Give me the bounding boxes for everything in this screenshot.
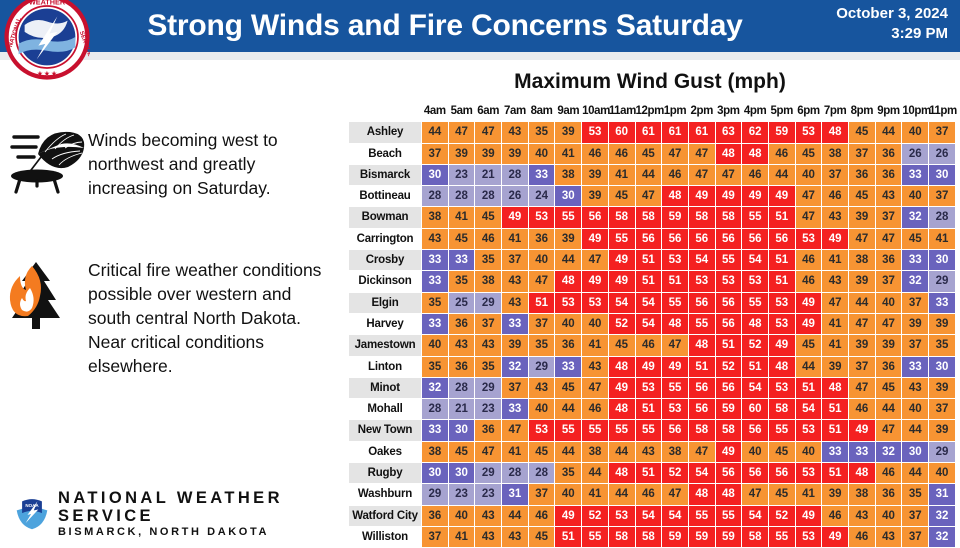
gust-cell: 41 (582, 484, 609, 505)
gust-cell: 54 (795, 399, 822, 420)
gust-cell: 51 (635, 463, 662, 484)
gust-cell: 47 (635, 186, 662, 207)
gust-cell: 48 (822, 377, 849, 398)
gust-cell: 30 (902, 441, 929, 462)
gust-cell: 53 (582, 122, 609, 143)
gust-cell: 59 (662, 526, 689, 547)
gust-cell: 39 (448, 143, 475, 164)
gust-cell: 37 (929, 399, 956, 420)
gust-cell: 25 (448, 292, 475, 313)
gust-cell: 56 (768, 228, 795, 249)
gust-cell: 56 (688, 377, 715, 398)
gust-cell: 54 (742, 250, 769, 271)
site-label: Harvey (349, 313, 422, 334)
gust-cell: 47 (475, 122, 502, 143)
gust-cell: 45 (555, 377, 582, 398)
gust-cell: 54 (635, 505, 662, 526)
gust-cell: 44 (608, 441, 635, 462)
gust-cell: 56 (688, 228, 715, 249)
gust-cell: 45 (795, 335, 822, 356)
site-label: Jamestown (349, 335, 422, 356)
gust-cell: 45 (768, 441, 795, 462)
gust-cell: 29 (528, 356, 555, 377)
gust-cell: 58 (768, 399, 795, 420)
gust-cell: 43 (902, 377, 929, 398)
gust-cell: 49 (582, 228, 609, 249)
hour-header-11pm: 11pm (929, 101, 956, 122)
gust-cell: 49 (502, 207, 529, 228)
table-row: Harvey3336373337404052544855564853494147… (349, 313, 956, 334)
gust-cell: 48 (608, 463, 635, 484)
gust-cell: 44 (849, 292, 876, 313)
site-label: Minot (349, 377, 422, 398)
gust-cell: 53 (608, 505, 635, 526)
gust-cell: 53 (795, 122, 822, 143)
gust-cell: 49 (849, 420, 876, 441)
gust-cell: 46 (849, 526, 876, 547)
gust-cell: 23 (475, 399, 502, 420)
gust-cell: 33 (422, 271, 449, 292)
gust-cell: 59 (768, 122, 795, 143)
site-label: New Town (349, 420, 422, 441)
nws-seal-icon: WEATHER ★ ★ ★ NATIONAL SERVICE (4, 0, 90, 80)
table-header-row: 4am5am6am7am8am9am10am11am12pm1pm2pm3pm4… (349, 101, 956, 122)
gust-cell: 56 (635, 228, 662, 249)
site-label: Elgin (349, 292, 422, 313)
site-label: Bowman (349, 207, 422, 228)
gust-cell: 54 (688, 463, 715, 484)
gust-cell: 55 (715, 250, 742, 271)
gust-cell: 47 (582, 250, 609, 271)
gust-cell: 28 (475, 186, 502, 207)
gust-cell: 46 (822, 505, 849, 526)
gust-cell: 51 (688, 356, 715, 377)
gust-cell: 37 (502, 377, 529, 398)
gust-cell: 40 (528, 399, 555, 420)
gust-cell: 58 (715, 207, 742, 228)
weather-graphic: WEATHER ★ ★ ★ NATIONAL SERVICE Strong Wi… (0, 0, 960, 540)
header-date: October 3, 2024 (768, 4, 948, 24)
gust-cell: 51 (768, 271, 795, 292)
gust-cell: 29 (475, 463, 502, 484)
gust-cell: 30 (422, 164, 449, 185)
gust-cell: 54 (635, 313, 662, 334)
gust-cell: 43 (635, 441, 662, 462)
site-label: Bottineau (349, 186, 422, 207)
gust-cell: 48 (662, 186, 689, 207)
gust-cell: 53 (768, 377, 795, 398)
bullet-panel: Winds becoming west to northwest and gre… (0, 68, 340, 488)
footer-office-name: BISMARCK, NORTH DAKOTA (58, 525, 344, 539)
gust-cell: 51 (795, 377, 822, 398)
gust-cell: 44 (555, 441, 582, 462)
table-row: Williston3741434345515558585959595855534… (349, 526, 956, 547)
gust-cell: 58 (715, 420, 742, 441)
gust-cell: 56 (742, 463, 769, 484)
gust-cell: 43 (502, 526, 529, 547)
gust-cell: 49 (715, 186, 742, 207)
gust-cell: 26 (902, 143, 929, 164)
gust-cell: 37 (929, 122, 956, 143)
gust-cell: 59 (688, 526, 715, 547)
gust-cell: 33 (822, 441, 849, 462)
gust-cell: 43 (849, 505, 876, 526)
gust-cell: 59 (715, 526, 742, 547)
gust-cell: 38 (582, 441, 609, 462)
gust-cell: 36 (875, 250, 902, 271)
noaa-logo-icon: NOAA (14, 496, 50, 532)
hour-header-4am: 4am (422, 101, 449, 122)
gust-cell: 48 (608, 356, 635, 377)
hour-header-2pm: 2pm (688, 101, 715, 122)
gust-cell: 47 (688, 164, 715, 185)
gust-cell: 44 (608, 484, 635, 505)
gust-cell: 56 (715, 292, 742, 313)
gust-cell: 53 (528, 207, 555, 228)
gust-cell: 53 (768, 313, 795, 334)
gust-cell: 54 (608, 292, 635, 313)
svg-text:NOAA: NOAA (25, 503, 39, 508)
gust-cell: 56 (662, 420, 689, 441)
gust-cell: 43 (875, 186, 902, 207)
gust-cell: 47 (662, 143, 689, 164)
gust-cell: 48 (715, 484, 742, 505)
gust-cell: 55 (555, 420, 582, 441)
table-row: Washburn29232331374041444647484847454139… (349, 484, 956, 505)
gust-cell: 37 (875, 207, 902, 228)
wind-gust-table: 4am5am6am7am8am9am10am11am12pm1pm2pm3pm4… (348, 100, 956, 548)
header-datetime: October 3, 2024 3:29 PM (768, 4, 948, 44)
svg-text:★ ★ ★: ★ ★ ★ (37, 71, 57, 78)
gust-cell: 45 (475, 207, 502, 228)
gust-cell: 44 (875, 399, 902, 420)
gust-cell: 28 (502, 463, 529, 484)
gust-cell: 45 (528, 526, 555, 547)
table-row: Ashley4447474335395360616161636259534845… (349, 122, 956, 143)
gust-cell: 55 (582, 420, 609, 441)
gust-cell: 40 (795, 164, 822, 185)
gust-cell: 21 (475, 164, 502, 185)
gust-cell: 45 (528, 441, 555, 462)
gust-cell: 46 (849, 399, 876, 420)
gust-cell: 53 (795, 420, 822, 441)
gust-cell: 47 (448, 122, 475, 143)
gust-cell: 46 (582, 143, 609, 164)
gust-cell: 53 (795, 526, 822, 547)
gust-cell: 41 (822, 335, 849, 356)
gust-cell: 46 (795, 250, 822, 271)
gust-cell: 56 (582, 207, 609, 228)
gust-cell: 48 (662, 313, 689, 334)
gust-cell: 56 (715, 377, 742, 398)
gust-cell: 49 (582, 271, 609, 292)
gust-cell: 46 (635, 484, 662, 505)
gust-cell: 28 (422, 186, 449, 207)
gust-cell: 29 (422, 484, 449, 505)
footer-agency-name: NATIONAL WEATHER SERVICE (58, 489, 344, 525)
gust-cell: 30 (422, 463, 449, 484)
gust-cell: 51 (822, 463, 849, 484)
gust-cell: 39 (849, 207, 876, 228)
gust-cell: 45 (448, 441, 475, 462)
wind-blown-umbrella-icon (8, 126, 88, 204)
gust-cell: 40 (742, 441, 769, 462)
gust-cell: 56 (742, 228, 769, 249)
gust-cell: 23 (475, 484, 502, 505)
gust-cell: 41 (929, 228, 956, 249)
hour-header-10pm: 10pm (902, 101, 929, 122)
site-label: Williston (349, 526, 422, 547)
gust-cell: 37 (822, 164, 849, 185)
gust-cell: 32 (902, 207, 929, 228)
hour-header-9am: 9am (555, 101, 582, 122)
gust-cell: 32 (422, 377, 449, 398)
gust-cell: 48 (688, 484, 715, 505)
gust-cell: 45 (608, 335, 635, 356)
gust-cell: 43 (875, 526, 902, 547)
gust-cell: 32 (929, 526, 956, 547)
gust-cell: 33 (528, 164, 555, 185)
gust-cell: 28 (448, 377, 475, 398)
gust-cell: 39 (902, 313, 929, 334)
gust-cell: 47 (795, 207, 822, 228)
gust-cell: 43 (475, 526, 502, 547)
gust-cell: 49 (795, 505, 822, 526)
site-label: Carrington (349, 228, 422, 249)
gust-cell: 54 (742, 505, 769, 526)
gust-cell: 48 (849, 463, 876, 484)
gust-cell: 33 (555, 356, 582, 377)
gust-cell: 32 (902, 271, 929, 292)
gust-cell: 28 (929, 207, 956, 228)
table-title: Maximum Wind Gust (mph) (350, 70, 950, 94)
site-label: Beach (349, 143, 422, 164)
hour-header-1pm: 1pm (662, 101, 689, 122)
gust-cell: 45 (795, 143, 822, 164)
site-label: Crosby (349, 250, 422, 271)
gust-cell: 48 (688, 335, 715, 356)
gust-cell: 35 (902, 484, 929, 505)
gust-cell: 56 (742, 420, 769, 441)
gust-cell: 43 (528, 377, 555, 398)
gust-cell: 49 (608, 377, 635, 398)
gust-cell: 53 (635, 377, 662, 398)
hour-header-9pm: 9pm (875, 101, 902, 122)
gust-cell: 33 (502, 313, 529, 334)
gust-cell: 40 (795, 441, 822, 462)
gust-cell: 56 (662, 228, 689, 249)
gust-cell: 33 (902, 356, 929, 377)
gust-cell: 52 (608, 313, 635, 334)
gust-cell: 37 (902, 526, 929, 547)
gust-cell: 49 (768, 335, 795, 356)
gust-cell: 45 (635, 143, 662, 164)
gust-cell: 37 (528, 313, 555, 334)
gust-cell: 53 (662, 250, 689, 271)
gust-cell: 21 (448, 399, 475, 420)
gust-cell: 56 (688, 292, 715, 313)
gust-cell: 46 (662, 164, 689, 185)
gust-cell: 36 (448, 356, 475, 377)
table-row: Mohall2821233340444648515356596058545146… (349, 399, 956, 420)
gust-cell: 32 (875, 441, 902, 462)
gust-cell: 47 (849, 377, 876, 398)
gust-cell: 48 (742, 313, 769, 334)
gust-cell: 56 (688, 399, 715, 420)
hour-header-11am: 11am (608, 101, 635, 122)
gust-cell: 55 (688, 505, 715, 526)
gust-cell: 61 (635, 122, 662, 143)
table-row: Carrington434546413639495556565656565653… (349, 228, 956, 249)
gust-cell: 55 (715, 505, 742, 526)
gust-cell: 40 (902, 399, 929, 420)
gust-cell: 43 (448, 335, 475, 356)
site-label: Washburn (349, 484, 422, 505)
gust-cell: 40 (555, 313, 582, 334)
gust-cell: 45 (875, 377, 902, 398)
gust-cell: 53 (688, 271, 715, 292)
fire-tree-icon (8, 256, 88, 334)
gust-cell: 41 (502, 441, 529, 462)
gust-cell: 30 (929, 250, 956, 271)
hour-header-5am: 5am (448, 101, 475, 122)
gust-cell: 47 (875, 313, 902, 334)
gust-cell: 55 (742, 207, 769, 228)
gust-cell: 36 (528, 228, 555, 249)
gust-cell: 47 (688, 441, 715, 462)
table-row: Beach37393939404146464547474848464538373… (349, 143, 956, 164)
header-divider (0, 52, 960, 60)
gust-cell: 41 (582, 335, 609, 356)
gust-cell: 44 (768, 164, 795, 185)
gust-cell: 51 (822, 399, 849, 420)
gust-cell: 46 (795, 271, 822, 292)
gust-cell: 41 (448, 526, 475, 547)
gust-cell: 45 (849, 122, 876, 143)
gust-cell: 45 (608, 186, 635, 207)
gust-cell: 53 (555, 292, 582, 313)
gust-cell: 44 (422, 122, 449, 143)
gust-cell: 45 (902, 228, 929, 249)
gust-cell: 35 (528, 335, 555, 356)
gust-cell: 33 (448, 250, 475, 271)
gust-cell: 38 (422, 441, 449, 462)
table-row: Bowman3841454953555658585958585551474339… (349, 207, 956, 228)
gust-cell: 52 (662, 463, 689, 484)
gust-cell: 52 (715, 356, 742, 377)
gust-cell: 37 (849, 356, 876, 377)
gust-cell: 47 (475, 441, 502, 462)
gust-cell: 40 (875, 292, 902, 313)
table-row: Minot32282937434547495355565654535148474… (349, 377, 956, 398)
gust-cell: 46 (528, 505, 555, 526)
gust-cell: 41 (502, 228, 529, 249)
bullet-text-wind: Winds becoming west to northwest and gre… (88, 126, 340, 200)
gust-cell: 51 (635, 250, 662, 271)
gust-cell: 62 (742, 122, 769, 143)
gust-cell: 36 (555, 335, 582, 356)
gust-cell: 31 (502, 484, 529, 505)
gust-cell: 51 (768, 250, 795, 271)
gust-cell: 33 (422, 420, 449, 441)
gust-cell: 39 (555, 228, 582, 249)
table-row: New Town33303647535555555556585856555351… (349, 420, 956, 441)
gust-cell: 37 (528, 484, 555, 505)
gust-cell: 35 (475, 250, 502, 271)
gust-cell: 33 (902, 250, 929, 271)
gust-cell: 56 (715, 313, 742, 334)
gust-cell: 29 (475, 292, 502, 313)
wind-gust-table-wrap: 4am5am6am7am8am9am10am11am12pm1pm2pm3pm4… (348, 100, 958, 548)
gust-cell: 43 (822, 271, 849, 292)
gust-cell: 43 (502, 271, 529, 292)
gust-cell: 39 (582, 164, 609, 185)
gust-cell: 40 (582, 313, 609, 334)
gust-cell: 53 (742, 271, 769, 292)
gust-cell: 29 (929, 441, 956, 462)
gust-cell: 28 (528, 463, 555, 484)
gust-cell: 48 (822, 122, 849, 143)
gust-cell: 35 (475, 356, 502, 377)
gust-cell: 55 (608, 420, 635, 441)
gust-cell: 53 (528, 420, 555, 441)
gust-cell: 47 (849, 228, 876, 249)
gust-cell: 33 (849, 441, 876, 462)
table-row: Bismarck30232128333839414446474746444037… (349, 164, 956, 185)
gust-cell: 40 (528, 250, 555, 271)
gust-cell: 45 (768, 484, 795, 505)
gust-cell: 46 (822, 186, 849, 207)
gust-cell: 23 (448, 164, 475, 185)
gust-cell: 30 (929, 356, 956, 377)
gust-cell: 44 (875, 122, 902, 143)
gust-cell: 33 (902, 164, 929, 185)
gust-cell: 55 (662, 377, 689, 398)
gust-cell: 37 (849, 143, 876, 164)
gust-cell: 39 (475, 143, 502, 164)
gust-cell: 35 (929, 335, 956, 356)
gust-cell: 29 (475, 377, 502, 398)
table-body: Ashley4447474335395360616161636259534845… (349, 122, 956, 548)
gust-cell: 36 (875, 356, 902, 377)
gust-cell: 36 (475, 420, 502, 441)
gust-cell: 51 (528, 292, 555, 313)
gust-cell: 53 (768, 292, 795, 313)
gust-cell: 38 (475, 271, 502, 292)
gust-cell: 40 (875, 505, 902, 526)
gust-cell: 36 (875, 484, 902, 505)
gust-cell: 43 (502, 122, 529, 143)
gust-cell: 54 (742, 377, 769, 398)
gust-cell: 32 (502, 356, 529, 377)
gust-cell: 46 (582, 399, 609, 420)
site-label: Ashley (349, 122, 422, 143)
gust-cell: 39 (822, 484, 849, 505)
gust-cell: 49 (662, 356, 689, 377)
gust-cell: 47 (502, 420, 529, 441)
hour-header-6am: 6am (475, 101, 502, 122)
gust-cell: 39 (849, 335, 876, 356)
hour-header-8pm: 8pm (849, 101, 876, 122)
gust-cell: 39 (502, 335, 529, 356)
gust-cell: 28 (448, 186, 475, 207)
gust-cell: 30 (448, 463, 475, 484)
gust-cell: 36 (875, 164, 902, 185)
gust-cell: 55 (608, 228, 635, 249)
gust-cell: 43 (422, 228, 449, 249)
hour-header-6pm: 6pm (795, 101, 822, 122)
gust-cell: 47 (688, 143, 715, 164)
